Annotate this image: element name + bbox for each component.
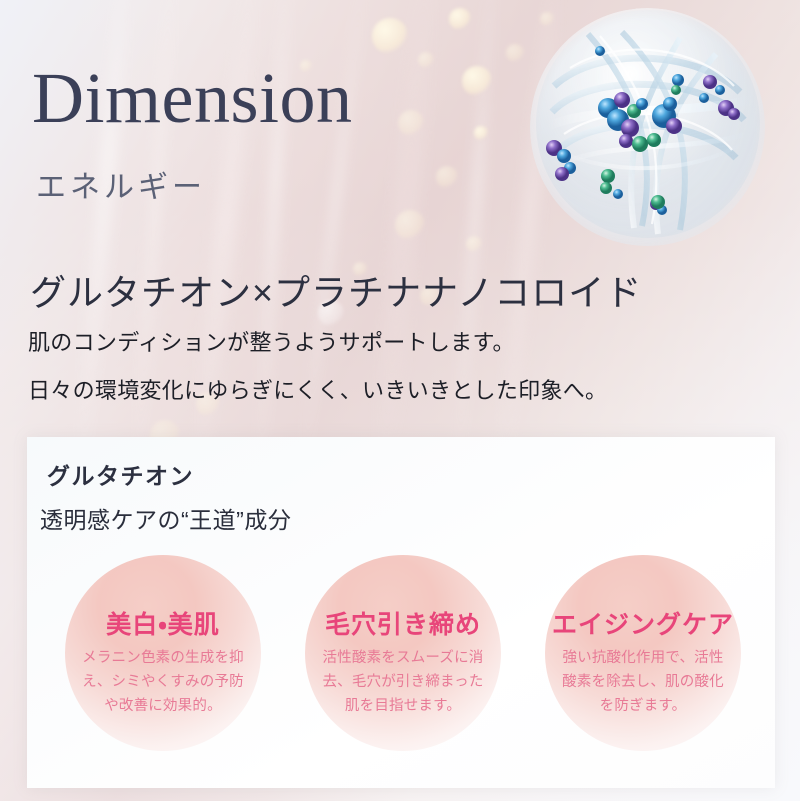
benefit-circle-group: 美白・美肌 メラニン色素の生成を抑え、シミやくすみの予防や改善に効果的。 毛穴引… [27, 555, 775, 770]
card-subtitle: 透明感ケアの“王道”成分 [40, 501, 291, 535]
page-root: Dimension エネルギー グルタチオン×プラチナナノコロイド 肌のコンディ… [0, 0, 800, 801]
benefit-body: メラニン色素の生成を抑え、シミやくすみの予防や改善に効果的。 [82, 647, 244, 719]
bokeh-dot [395, 210, 425, 240]
benefit-title: 美白・美肌 [65, 605, 261, 641]
bokeh-dot [462, 66, 492, 96]
bokeh-dot [418, 52, 434, 68]
bokeh-dot [372, 18, 408, 54]
light-streak [368, 0, 443, 440]
card-title: グルタチオン [47, 457, 194, 491]
benefit-circle: 美白・美肌 メラニン色素の生成を抑え、シミやくすみの予防や改善に効果的。 [65, 555, 261, 751]
lead-line-2: 日々の環境変化にゆらぎにくく、いきいきとした印象へ。 [28, 378, 607, 404]
bokeh-dot [466, 236, 482, 252]
benefit-body: 活性酸素をスムーズに消去、毛穴が引き締まった肌を目指せます。 [322, 647, 484, 719]
benefit-title: エイジングケア [545, 605, 741, 641]
lead-heading: グルタチオン×プラチナナノコロイド [30, 272, 642, 313]
bokeh-dot [436, 166, 458, 188]
hero-title: Dimension [32, 62, 352, 134]
bokeh-dot [506, 44, 524, 62]
ingredient-card: グルタチオン 透明感ケアの“王道”成分 美白・美肌 メラニン色素の生成を抑え、シ… [27, 437, 775, 788]
light-streak [450, 0, 499, 440]
bokeh-dot [449, 8, 471, 30]
benefit-title: 毛穴引き締め [305, 605, 501, 641]
bokeh-dot [398, 110, 424, 136]
benefit-circle: エイジングケア 強い抗酸化作用で、活性酸素を除去し、肌の酸化を防ぎます。 [545, 555, 741, 751]
benefit-circle: 毛穴引き締め 活性酸素をスムーズに消去、毛穴が引き締まった肌を目指せます。 [305, 555, 501, 751]
lead-line-1: 肌のコンディションが整うようサポートします。 [28, 330, 515, 356]
benefit-body: 強い抗酸化作用で、活性酸素を除去し、肌の酸化を防ぎます。 [562, 647, 724, 719]
molecule-dna-icon [530, 8, 765, 246]
bokeh-dot [474, 126, 488, 140]
hero-subtitle: エネルギー [36, 173, 206, 203]
bokeh-dot [540, 12, 554, 26]
